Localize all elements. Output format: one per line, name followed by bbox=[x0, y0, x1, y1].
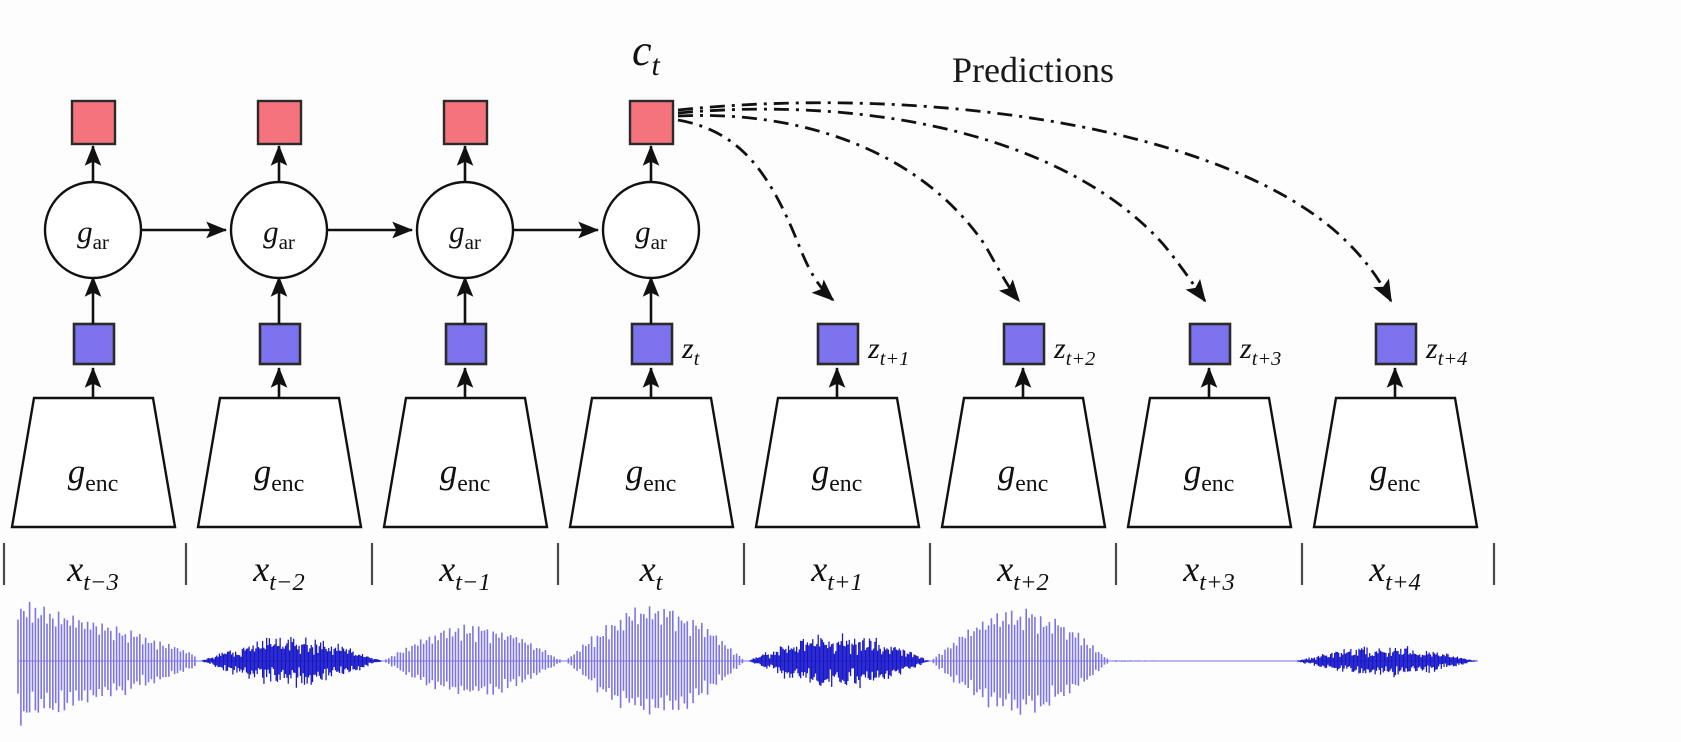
context-square-layer bbox=[72, 101, 673, 144]
encoder-block-1[interactable]: genc bbox=[198, 398, 361, 527]
latent-label-7: zt+4 bbox=[1425, 332, 1467, 370]
latent-square-3[interactable] bbox=[632, 324, 672, 364]
autoregressive-node-2[interactable]: gar bbox=[417, 182, 513, 278]
predictions-label: Predictions bbox=[952, 50, 1114, 90]
latent-to-ar-arrows bbox=[93, 277, 651, 324]
waveform-segment-0 bbox=[18, 602, 195, 726]
ar-to-context-arrows bbox=[93, 146, 651, 182]
latent-square-7[interactable] bbox=[1376, 324, 1416, 364]
latent-square-6[interactable] bbox=[1190, 324, 1230, 364]
encoder-block-0[interactable]: genc bbox=[12, 398, 175, 527]
waveform-segment-2 bbox=[383, 625, 560, 695]
latent-label-layer: zt zt+1 zt+2 zt+3 zt+4 bbox=[681, 332, 1467, 370]
input-label-5: xt+2 bbox=[996, 549, 1049, 596]
input-label-2: xt−1 bbox=[438, 549, 491, 596]
latent-label-3: zt bbox=[681, 332, 701, 370]
context-square-2[interactable] bbox=[444, 101, 487, 144]
encoder-layer: genc genc genc genc genc genc ge bbox=[12, 398, 1477, 527]
latent-square-0[interactable] bbox=[74, 324, 114, 364]
encoder-block-2[interactable]: genc bbox=[384, 398, 547, 527]
waveform-segment-7 bbox=[1296, 646, 1477, 677]
context-square-0[interactable] bbox=[72, 101, 115, 144]
latent-label-6: zt+3 bbox=[1239, 332, 1281, 370]
input-label-6: xt+3 bbox=[1182, 549, 1235, 596]
encoder-block-7[interactable]: genc bbox=[1314, 398, 1477, 527]
latent-square-2[interactable] bbox=[446, 324, 486, 364]
context-square-1[interactable] bbox=[258, 101, 301, 144]
autoregressive-node-0[interactable]: gar bbox=[45, 182, 141, 278]
latent-square-5[interactable] bbox=[1004, 324, 1044, 364]
prediction-arrow-t2 bbox=[678, 115, 1019, 301]
latent-square-layer bbox=[74, 324, 1416, 364]
latent-label-4: zt+1 bbox=[867, 332, 909, 370]
input-label-1: xt−2 bbox=[252, 549, 305, 596]
prediction-arrow-t4 bbox=[678, 103, 1391, 301]
latent-square-1[interactable] bbox=[260, 324, 300, 364]
context-vector-label: ct bbox=[632, 26, 661, 82]
autoregressive-node-3[interactable]: gar bbox=[603, 182, 699, 278]
prediction-curves bbox=[678, 103, 1391, 301]
context-square-3[interactable] bbox=[630, 101, 673, 144]
waveform-segment-3 bbox=[566, 606, 743, 714]
latent-square-4[interactable] bbox=[818, 324, 858, 364]
encoder-block-4[interactable]: genc bbox=[756, 398, 919, 527]
audio-waveform bbox=[18, 602, 1478, 726]
autoregressive-node-1[interactable]: gar bbox=[231, 182, 327, 278]
latent-label-5: zt+2 bbox=[1053, 332, 1095, 370]
encoder-block-3[interactable]: genc bbox=[570, 398, 733, 527]
input-label-0: xt−3 bbox=[66, 549, 119, 596]
prediction-arrow-t1 bbox=[678, 120, 833, 300]
encoder-to-latent-arrows bbox=[93, 368, 1395, 398]
cpc-architecture-diagram: genc genc genc genc genc genc ge bbox=[0, 0, 1681, 742]
waveform-segment-1 bbox=[201, 637, 382, 688]
waveform-segment-4 bbox=[748, 633, 929, 688]
timestep-separators bbox=[4, 543, 1494, 585]
encoder-block-6[interactable]: genc bbox=[1128, 398, 1291, 527]
encoder-block-5[interactable]: genc bbox=[942, 398, 1105, 527]
waveform-segment-5 bbox=[931, 609, 1108, 715]
input-label-7: xt+4 bbox=[1368, 549, 1421, 596]
figure-canvas: genc genc genc genc genc genc ge bbox=[0, 0, 1681, 742]
input-label-4: xt+1 bbox=[810, 549, 863, 596]
input-label-3: xt bbox=[639, 549, 664, 596]
